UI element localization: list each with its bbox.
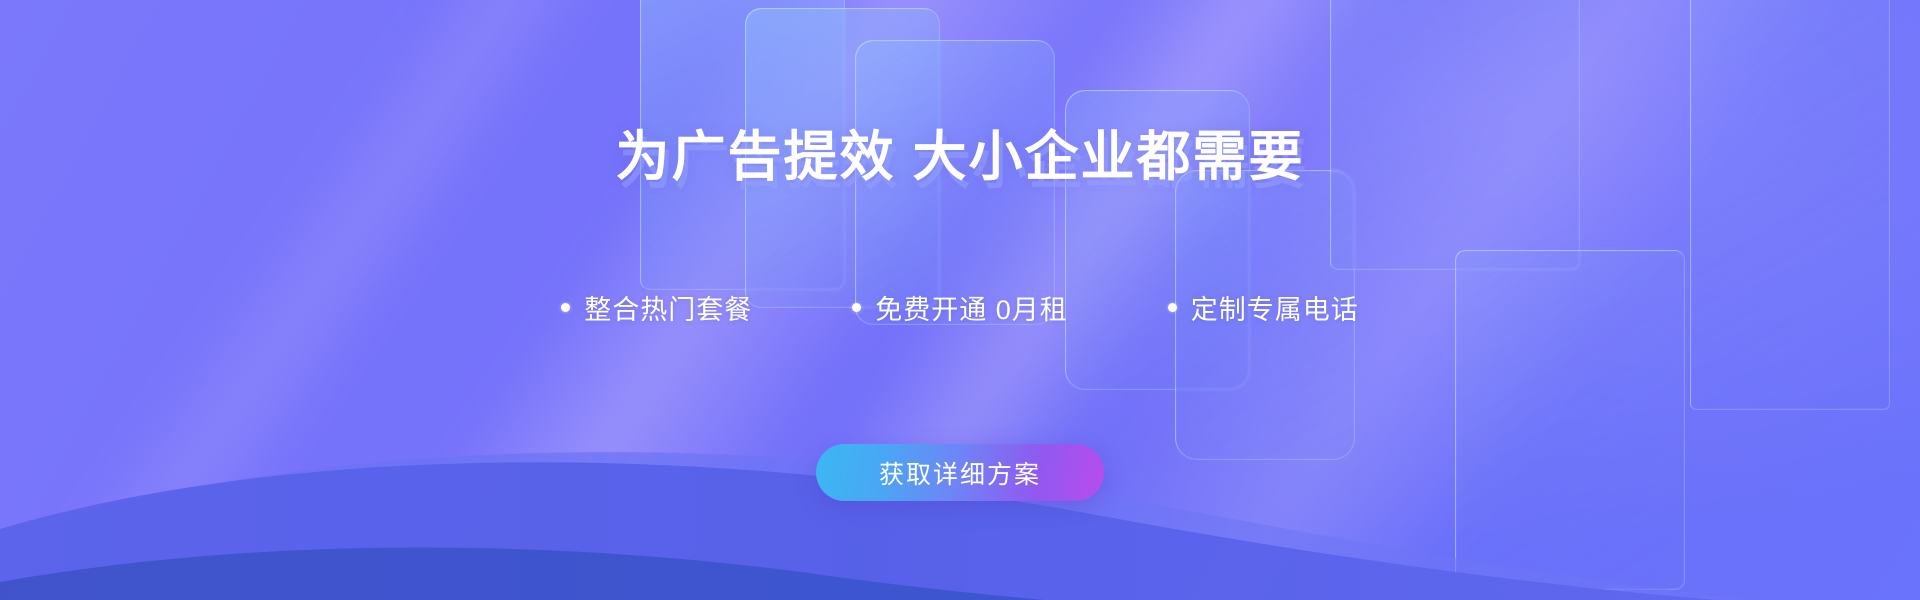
list-item-label: 定制专属电话: [1191, 288, 1359, 327]
list-item-label: 免费开通 0月租: [875, 288, 1068, 327]
banner-content: 为广告提效 大小企业都需要 整合热门套餐 免费开通 0月租 定制专属电话 获取详…: [0, 0, 1920, 600]
bullet-dot-icon: [1168, 303, 1177, 312]
list-item: 整合热门套餐: [561, 288, 752, 327]
cta-container: 获取详细方案: [0, 444, 1920, 501]
feature-bullet-list: 整合热门套餐 免费开通 0月租 定制专属电话: [0, 288, 1920, 327]
get-detailed-plan-button[interactable]: 获取详细方案: [816, 444, 1104, 501]
page-title: 为广告提效 大小企业都需要: [0, 126, 1920, 190]
list-item-label: 整合热门套餐: [584, 288, 752, 327]
list-item: 免费开通 0月租: [852, 288, 1068, 327]
list-item: 定制专属电话: [1168, 288, 1359, 327]
hero-banner: 为广告提效 大小企业都需要 整合热门套餐 免费开通 0月租 定制专属电话 获取详…: [0, 0, 1920, 600]
bullet-dot-icon: [561, 303, 570, 312]
bullet-dot-icon: [852, 303, 861, 312]
